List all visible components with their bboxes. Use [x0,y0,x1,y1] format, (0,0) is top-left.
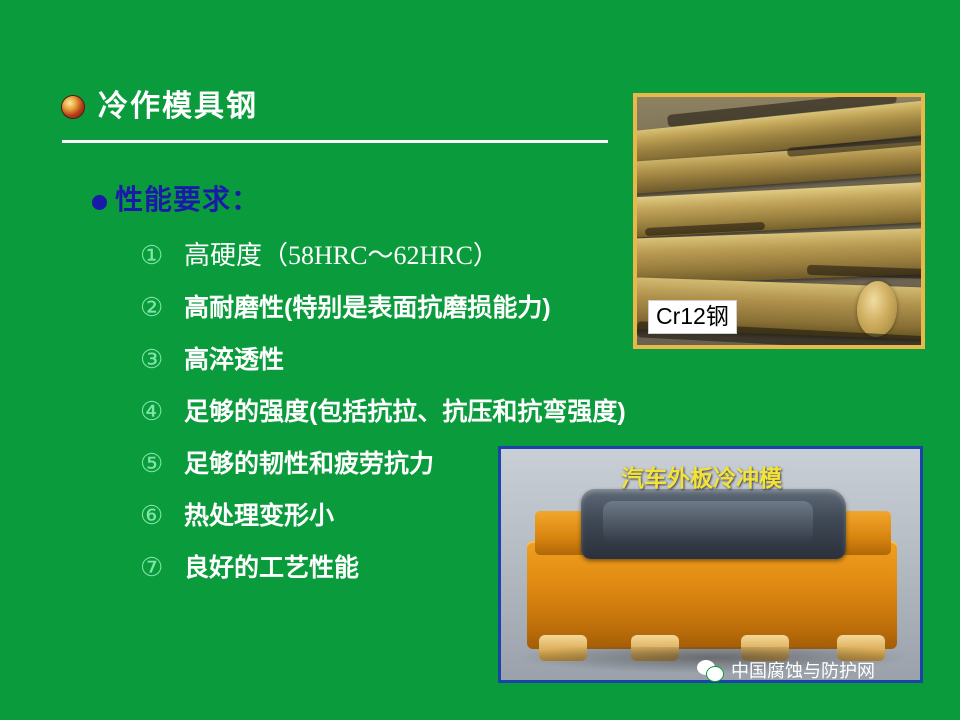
list-item-label: 高淬透性 [184,343,284,377]
list-item-number: ② [140,290,170,324]
title-bullet-icon [62,96,84,118]
stamping-die-caption: 汽车外板冷冲模 [621,459,782,493]
list-item-number: ⑦ [140,550,170,584]
section-heading-label: 性能要求： [115,186,260,214]
list-item-label: 足够的韧性和疲劳抗力 [184,447,434,481]
section-heading: 性能要求： [92,186,260,214]
list-item-label: 热处理变形小 [184,499,334,533]
list-item-number: ① [140,238,170,272]
list-item-number: ④ [140,394,170,428]
stamping-die-photo: 汽车外板冷冲模 [498,446,923,683]
list-item-label: 足够的强度(包括抗拉、抗压和抗弯强度) [184,395,626,429]
list-item-number: ⑤ [140,446,170,480]
footer-watermark: 中国腐蚀与防护网 [697,660,875,681]
page-title: 冷作模具钢 [62,92,258,122]
list-item-number: ⑥ [140,498,170,532]
title-label: 冷作模具钢 [98,92,258,122]
list-item-label: 高硬度（58HRC～62HRC） [184,239,499,273]
footer-label: 中国腐蚀与防护网 [731,662,875,680]
list-item-label: 高耐磨性(特别是表面抗磨损能力) [184,291,551,325]
steel-bars-caption: Cr12钢 [648,300,737,334]
die-cavity [603,501,813,543]
list-item: ④ 足够的强度(包括抗拉、抗压和抗弯强度) [140,394,780,428]
slide-root: 冷作模具钢 性能要求： ① 高硬度（58HRC～62HRC） ② 高耐磨性(特别… [0,0,960,720]
wechat-icon [697,660,723,681]
die-upper-block [581,489,846,559]
title-divider [62,140,608,143]
section-bullet-icon [92,195,107,210]
list-item-number: ③ [140,342,170,376]
list-item-label: 良好的工艺性能 [184,551,359,585]
